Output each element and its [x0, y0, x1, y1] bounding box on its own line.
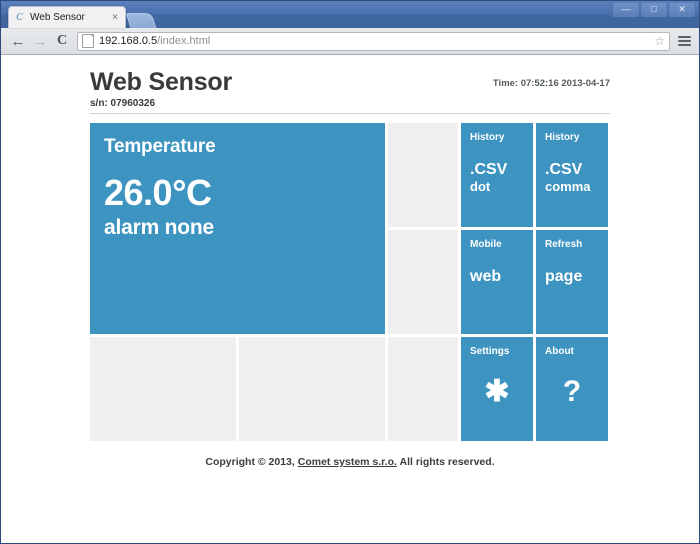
tab-strip: C Web Sensor ×: [8, 5, 154, 28]
footer-before: Copyright © 2013,: [205, 456, 297, 468]
tile-refresh-page[interactable]: Refresh page: [536, 230, 608, 334]
tile-empty-c1-r3: [90, 337, 236, 441]
tile-empty-c3-r2: [388, 230, 458, 334]
tile-head: Mobile: [470, 239, 524, 251]
tile-about[interactable]: About ?: [536, 337, 608, 441]
footer-after: All rights reserved.: [397, 456, 495, 468]
tile-sub: comma: [545, 179, 599, 194]
tile-head: About: [545, 346, 599, 358]
tile-body: .CSV: [470, 160, 524, 179]
reload-icon[interactable]: C: [51, 30, 73, 52]
temperature-alarm: alarm none: [104, 215, 371, 240]
tile-mobile-web[interactable]: Mobile web: [461, 230, 533, 334]
url-path: /index.html: [157, 35, 210, 47]
bookmark-star-icon[interactable]: ☆: [654, 35, 665, 47]
tile-head: Settings: [470, 346, 524, 358]
new-tab-button[interactable]: [126, 13, 157, 28]
tile-body: page: [545, 267, 599, 286]
tile-empty-c2-r3: [239, 337, 385, 441]
address-bar[interactable]: 192.168.0.5/index.html ☆: [77, 32, 670, 51]
browser-window: C Web Sensor × — □ ✕ ← → C 192.168.0.5/i…: [0, 0, 700, 544]
tile-empty-c3-r1: [388, 123, 458, 227]
forward-icon: →: [29, 30, 51, 52]
tile-body: web: [470, 267, 524, 286]
tile-settings[interactable]: Settings ✱: [461, 337, 533, 441]
question-mark-icon: ?: [545, 376, 599, 408]
url-text: 192.168.0.5/index.html: [99, 34, 210, 48]
browser-toolbar: ← → C 192.168.0.5/index.html ☆: [1, 28, 699, 55]
device-time: Time: 07:52:16 2013-04-17: [493, 78, 610, 89]
tile-empty-c3-r3: [388, 337, 458, 441]
window-controls: — □ ✕: [613, 2, 695, 17]
temperature-label: Temperature: [104, 135, 371, 159]
minimize-icon[interactable]: —: [613, 2, 639, 17]
footer-copyright: Copyright © 2013, Comet system s.r.o. Al…: [90, 455, 610, 469]
comet-system-link[interactable]: Comet system s.r.o.: [298, 456, 397, 468]
close-icon[interactable]: ✕: [669, 2, 695, 17]
back-icon[interactable]: ←: [7, 30, 29, 52]
chrome-favicon-icon: C: [13, 11, 26, 24]
tile-head: History: [545, 132, 599, 144]
asterisk-icon: ✱: [470, 376, 524, 408]
tile-head: History: [470, 132, 524, 144]
tile-temperature[interactable]: Temperature 26.0°C alarm none: [90, 123, 385, 334]
tile-grid: Temperature 26.0°C alarm none History .C…: [90, 123, 610, 441]
tile-body: .CSV: [545, 160, 599, 179]
title-bar: C Web Sensor × — □ ✕: [1, 1, 699, 28]
hamburger-menu-icon[interactable]: [676, 31, 693, 51]
tile-sub: dot: [470, 179, 524, 194]
tile-history-csv-dot[interactable]: History .CSV dot: [461, 123, 533, 227]
page-header: Web Sensor s/n: 07960326 Time: 07:52:16 …: [90, 69, 610, 114]
page-document-icon: [82, 34, 94, 48]
maximize-icon[interactable]: □: [641, 2, 667, 17]
page-content: Web Sensor s/n: 07960326 Time: 07:52:16 …: [90, 55, 610, 469]
temperature-value: 26.0°C: [104, 171, 371, 215]
tab-web-sensor[interactable]: C Web Sensor ×: [8, 6, 126, 28]
page-viewport: Web Sensor s/n: 07960326 Time: 07:52:16 …: [1, 55, 699, 543]
tile-history-csv-comma[interactable]: History .CSV comma: [536, 123, 608, 227]
tile-head: Refresh: [545, 239, 599, 251]
url-host: 192.168.0.5: [99, 35, 157, 47]
tab-title: Web Sensor: [30, 12, 109, 24]
serial-number: s/n: 07960326: [90, 97, 610, 110]
tab-close-icon[interactable]: ×: [109, 12, 121, 24]
